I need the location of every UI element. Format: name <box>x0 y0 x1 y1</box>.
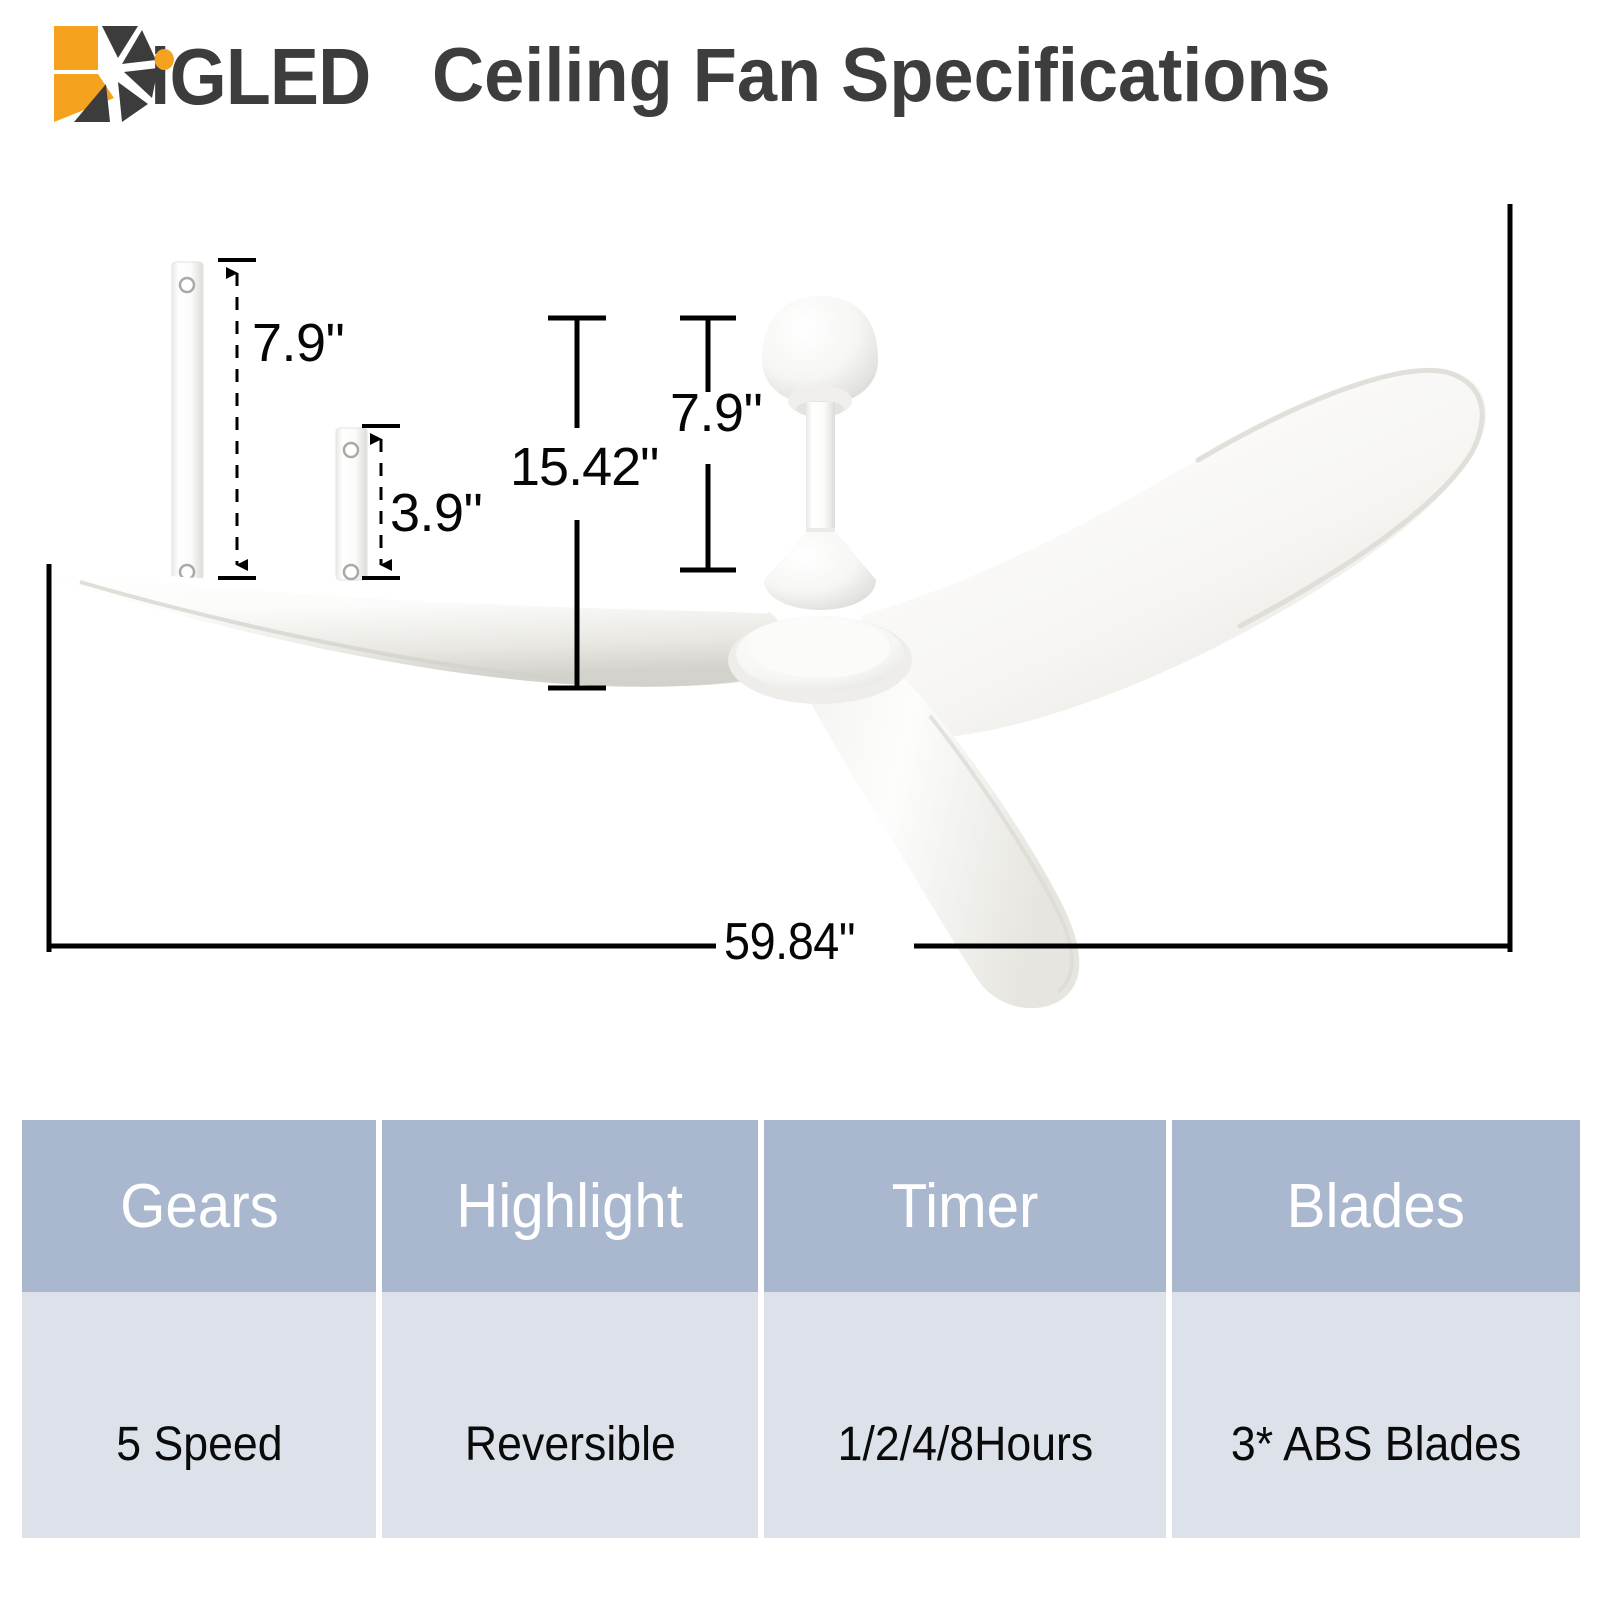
spec-header-gears-label: Gears <box>120 1171 279 1242</box>
spec-column-timer: Timer 1/2/4/8Hours <box>764 1120 1166 1538</box>
spec-header-highlight-label: Highlight <box>457 1171 684 1242</box>
dim-label-downrod-short: 3.9" <box>390 482 482 544</box>
logo-i-dot-icon <box>155 49 174 70</box>
spec-value-timer: 1/2/4/8Hours <box>764 1292 1166 1538</box>
spec-value-timer-label: 1/2/4/8Hours <box>837 1417 1093 1472</box>
specification-table: Gears 5 Speed Highlight Reversible Timer… <box>22 1120 1580 1538</box>
page-header: iGLED Ceiling Fan Specifications <box>0 0 1600 160</box>
digled-logo-icon <box>52 24 160 124</box>
dim-total-height <box>548 318 606 688</box>
spec-header-timer-label: Timer <box>892 1171 1039 1242</box>
logo-wordmark-text: iGLED <box>150 32 370 121</box>
spec-header-highlight: Highlight <box>382 1120 758 1292</box>
spec-value-gears: 5 Speed <box>22 1292 376 1538</box>
spec-column-blades: Blades 3* ABS Blades <box>1172 1120 1580 1538</box>
spec-column-highlight: Highlight Reversible <box>382 1120 758 1538</box>
dim-downrod-long <box>218 260 256 578</box>
spec-header-gears: Gears <box>22 1120 376 1292</box>
dim-label-drop-height: 7.9" <box>670 382 762 444</box>
product-dimension-diagram: 7.9" 3.9" 15.42" 7.9" 59.84" <box>0 160 1600 1060</box>
spec-header-blades-label: Blades <box>1287 1171 1465 1242</box>
spec-value-highlight-label: Reversible <box>465 1417 676 1472</box>
dim-label-blade-span: 59.84" <box>724 912 855 972</box>
spec-value-blades: 3* ABS Blades <box>1172 1292 1580 1538</box>
spec-value-gears-label: 5 Speed <box>116 1417 282 1472</box>
spec-header-blades: Blades <box>1172 1120 1580 1292</box>
digled-wordmark: iGLED <box>150 30 370 124</box>
dim-drop-height <box>680 318 736 570</box>
spec-column-gears: Gears 5 Speed <box>22 1120 376 1538</box>
page-title: Ceiling Fan Specifications <box>432 28 1331 124</box>
spec-header-timer: Timer <box>764 1120 1166 1292</box>
spec-value-blades-label: 3* ABS Blades <box>1231 1417 1521 1472</box>
dim-label-total-height: 15.42" <box>510 436 658 498</box>
spec-value-highlight: Reversible <box>382 1292 758 1538</box>
dim-label-downrod-long: 7.9" <box>252 312 344 374</box>
